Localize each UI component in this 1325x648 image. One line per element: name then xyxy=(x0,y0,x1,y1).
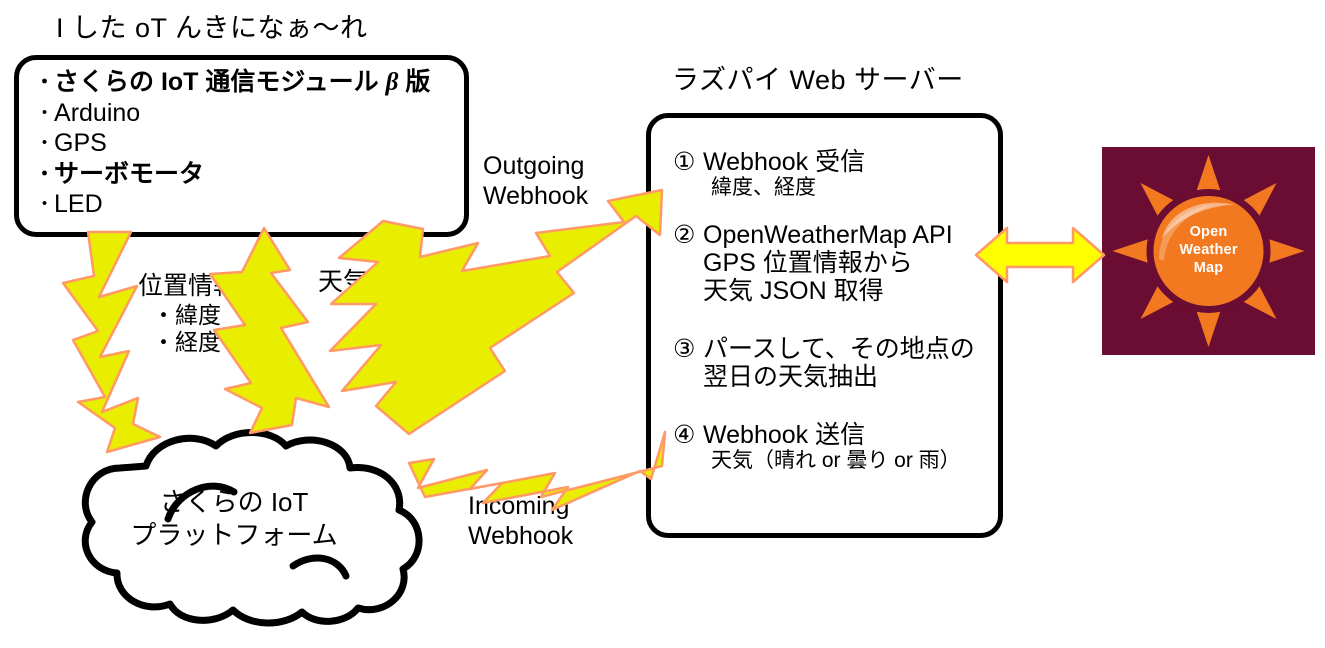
device-list-item: ・Arduino xyxy=(35,99,458,129)
bullet-mark: ・ xyxy=(35,194,54,215)
location-info-label: 位置情報 ・緯度 ・経度 xyxy=(138,272,238,356)
server-step-2-head: ②OpenWeatherMap API xyxy=(673,221,992,249)
outgoing-webhook-line2: Webhook xyxy=(483,182,588,212)
device-list-item: ・LED xyxy=(35,190,458,220)
beta-symbol: β xyxy=(386,69,399,96)
server-step-3: ③パースして、その地点の 翌日の天気抽出 xyxy=(673,335,992,391)
outgoing-webhook-label: Outgoing Webhook xyxy=(483,152,588,211)
step-number-3: ③ xyxy=(673,335,703,363)
server-step-3-label: パースして、その地点の xyxy=(703,335,975,363)
device-list-item-label: Arduino xyxy=(54,99,140,127)
device-list-item: ・サーボモータ xyxy=(35,160,458,190)
location-info-sub-longitude: ・経度 xyxy=(138,329,238,356)
weather-info-label: 天気情報 xyxy=(318,268,418,298)
device-box: ・さくらの IoT 通信モジュール β 版 ・Arduino ・GPS ・サーボ… xyxy=(14,55,469,237)
bullet-mark: ・ xyxy=(35,164,54,185)
bullet-mark: ・ xyxy=(35,103,54,124)
device-list-item: ・さくらの IoT 通信モジュール β 版 xyxy=(35,68,458,98)
server-step-3-head: ③パースして、その地点の xyxy=(673,335,992,363)
server-step-2-line2: GPS 位置情報から xyxy=(673,249,992,277)
cloud-label: さくらの IoT プラットフォーム xyxy=(28,486,440,552)
location-info-sub-latitude: ・緯度 xyxy=(138,302,238,329)
server-step-1-label: Webhook 受信 xyxy=(703,148,865,176)
server-step-1: ①Webhook 受信 緯度、経度 xyxy=(673,148,992,201)
server-step-4-label: Webhook 送信 xyxy=(703,421,865,449)
server-step-4-sub: 天気（晴れ or 曇り or 雨） xyxy=(673,449,992,474)
cloud-label-line1: さくらの IoT xyxy=(28,486,440,519)
location-info-title: 位置情報 xyxy=(138,272,238,302)
server-step-4-head: ④Webhook 送信 xyxy=(673,421,992,449)
device-feature-list: ・さくらの IoT 通信モジュール β 版 ・Arduino ・GPS ・サーボ… xyxy=(35,68,458,221)
device-list-item-label: LED xyxy=(54,190,103,218)
incoming-webhook-label: Incoming Webhook xyxy=(468,492,573,551)
device-list-item-label: さくらの IoT 通信モジュール xyxy=(54,68,386,96)
device-list-item-suffix: 版 xyxy=(398,68,430,96)
diagram-canvas: I した oT んきになぁ〜れ ラズパイ Web サーバー ・さくらの IoT … xyxy=(0,0,1325,648)
step-number-2: ② xyxy=(673,221,703,249)
sakura-iot-platform-cloud: さくらの IoT プラットフォーム xyxy=(28,424,440,629)
right-diagram-title: ラズパイ Web サーバー xyxy=(672,58,964,97)
device-list-item-label: GPS xyxy=(54,129,107,157)
outgoing-webhook-line1: Outgoing xyxy=(483,152,588,182)
server-step-3-line2: 翌日の天気抽出 xyxy=(673,363,992,391)
sun-icon xyxy=(1102,147,1315,355)
openweathermap-logo: Open Weather Map xyxy=(1102,147,1315,355)
server-step-1-sub: 緯度、経度 xyxy=(673,176,992,201)
server-step-4: ④Webhook 送信 天気（晴れ or 曇り or 雨） xyxy=(673,421,992,474)
incoming-webhook-line2: Webhook xyxy=(468,522,573,552)
server-step-2-label: OpenWeatherMap API xyxy=(703,221,953,249)
bullet-mark: ・ xyxy=(35,133,54,154)
cloud-label-line2: プラットフォーム xyxy=(28,519,440,552)
incoming-webhook-line1: Incoming xyxy=(468,492,573,522)
server-box: ①Webhook 受信 緯度、経度 ②OpenWeatherMap API GP… xyxy=(646,113,1003,538)
server-step-list: ①Webhook 受信 緯度、経度 ②OpenWeatherMap API GP… xyxy=(673,146,992,488)
step-number-1: ① xyxy=(673,148,703,176)
device-list-item-label: サーボモータ xyxy=(54,160,204,188)
step-number-4: ④ xyxy=(673,421,703,449)
device-list-item: ・GPS xyxy=(35,129,458,159)
server-step-1-head: ①Webhook 受信 xyxy=(673,148,992,176)
server-step-2: ②OpenWeatherMap API GPS 位置情報から 天気 JSON 取… xyxy=(673,221,992,305)
left-diagram-title: I した oT んきになぁ〜れ xyxy=(56,6,368,45)
server-step-2-line3: 天気 JSON 取得 xyxy=(673,277,992,305)
bullet-mark: ・ xyxy=(35,72,54,93)
